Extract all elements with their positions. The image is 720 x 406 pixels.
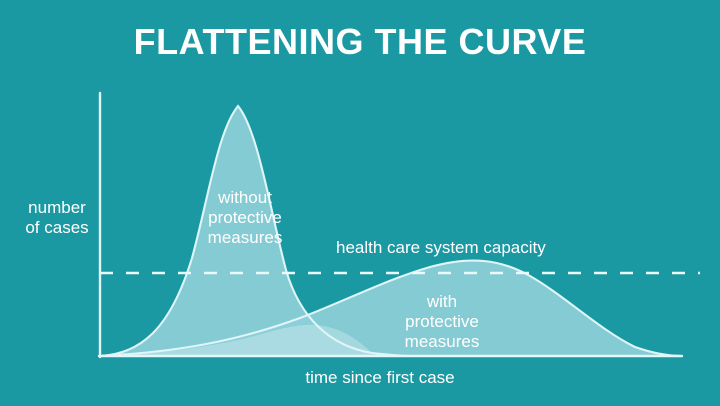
curve1-label-line-1: without: [183, 188, 307, 208]
y-axis-label: number of cases: [18, 198, 96, 238]
curve-without-protective-measures-label: without protective measures: [183, 188, 307, 248]
curve1-label-line-2: protective: [183, 208, 307, 228]
infographic-canvas: FLATTENING THE CURVE number of cases: [0, 0, 720, 406]
curve2-label-line-3: measures: [380, 332, 504, 352]
y-axis-label-line-2: of cases: [18, 218, 96, 238]
curve-with-protective-measures-label: with protective measures: [380, 292, 504, 352]
curve2-label-line-1: with: [380, 292, 504, 312]
y-axis-label-line-1: number: [18, 198, 96, 218]
curve2-label-line-2: protective: [380, 312, 504, 332]
capacity-label: health care system capacity: [336, 238, 546, 258]
curve1-label-line-3: measures: [183, 228, 307, 248]
flatten-the-curve-chart: [0, 0, 720, 406]
x-axis-label: time since first case: [180, 368, 580, 388]
